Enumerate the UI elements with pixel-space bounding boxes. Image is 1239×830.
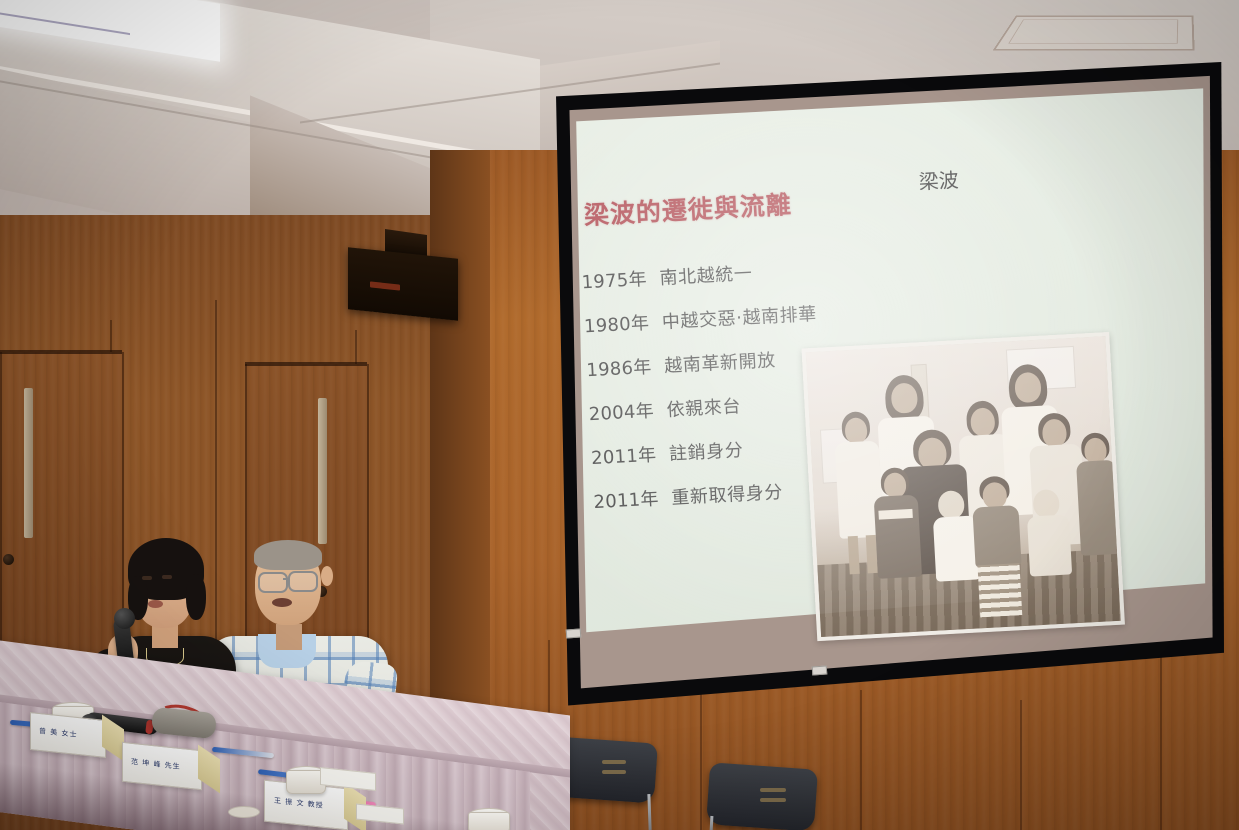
slide-year: 1980年 (583, 308, 662, 338)
name-tent-3-label: 王 振 文 教授 (274, 796, 324, 811)
woman-mouth (148, 600, 163, 608)
name-tent-1-label: 曾 美 女士 (39, 726, 77, 740)
cup-3[interactable] (468, 812, 510, 830)
chair-2-slot-top (602, 760, 626, 764)
slide-row: 1980年 中越交惡‧越南排華 (583, 295, 914, 339)
ceiling-access-panel-inner (1008, 19, 1178, 43)
slide-year: 2004年 (588, 396, 667, 426)
man-glasses-right-lens (288, 571, 318, 592)
door-right-handle[interactable] (318, 398, 327, 544)
man-mouth (272, 598, 292, 607)
slide-event: 中越交惡‧越南排華 (661, 300, 817, 334)
screen-mount-tab-2 (812, 665, 828, 675)
door-left-knob[interactable] (3, 554, 14, 565)
woman-eye-left (142, 576, 152, 580)
chair-2-slot-bottom (602, 770, 626, 774)
slide-event: 依親來台 (666, 392, 742, 422)
cup-lid-4[interactable] (228, 806, 260, 818)
slide-year: 1975年 (581, 264, 660, 294)
slide-author: 梁波 (918, 164, 960, 195)
slide-content: 梁波的遷徙與流離 梁波 1975年 南北越統一 1980年 中越交惡‧越南排華 … (535, 44, 1239, 739)
chair-3-slot-bottom (760, 798, 786, 802)
name-tent-1: 曾 美 女士 (30, 712, 106, 758)
name-tent-2-label: 范 坤 峰 先生 (131, 757, 181, 772)
slide-year: 2011年 (593, 484, 672, 514)
man-glasses-left-lens (258, 572, 288, 593)
woman-hair-side-right (186, 574, 206, 620)
screen-mount-tab-1 (566, 628, 582, 638)
name-tent-2: 范 坤 峰 先生 (122, 742, 202, 790)
door-right-top-gap (245, 362, 367, 366)
chair-3-back (706, 762, 818, 830)
slide-event: 越南革新開放 (664, 346, 777, 378)
man-ear (321, 566, 333, 586)
slide-event: 南北越統一 (659, 259, 753, 290)
conference-room-photo: 梁波的遷徙與流離 梁波 1975年 南北越統一 1980年 中越交惡‧越南排華 … (0, 0, 1239, 830)
projection-screen[interactable]: 梁波的遷徙與流離 梁波 1975年 南北越統一 1980年 中越交惡‧越南排華 … (552, 62, 1224, 722)
wall-speaker (348, 247, 458, 321)
woman-eye-right (162, 575, 172, 579)
slide-family-photo (802, 332, 1125, 641)
slide-year: 2011年 (590, 440, 669, 470)
slide-year: 1986年 (586, 352, 665, 382)
man-hair (254, 540, 322, 570)
door-left-top-gap (0, 350, 122, 354)
slide-title: 梁波的遷徙與流離 (583, 185, 793, 232)
man-glasses-bridge (283, 578, 290, 580)
woman-microphone-head (114, 608, 135, 629)
photo-fade-overlay (806, 336, 1121, 637)
door-left-handle[interactable] (24, 388, 33, 538)
man-neck (276, 624, 302, 650)
slide-event: 註銷身分 (668, 436, 744, 466)
chair-3-slot-top (760, 788, 786, 792)
slide-event: 重新取得身分 (671, 478, 784, 510)
slide-row: 1975年 南北越統一 (581, 251, 912, 295)
